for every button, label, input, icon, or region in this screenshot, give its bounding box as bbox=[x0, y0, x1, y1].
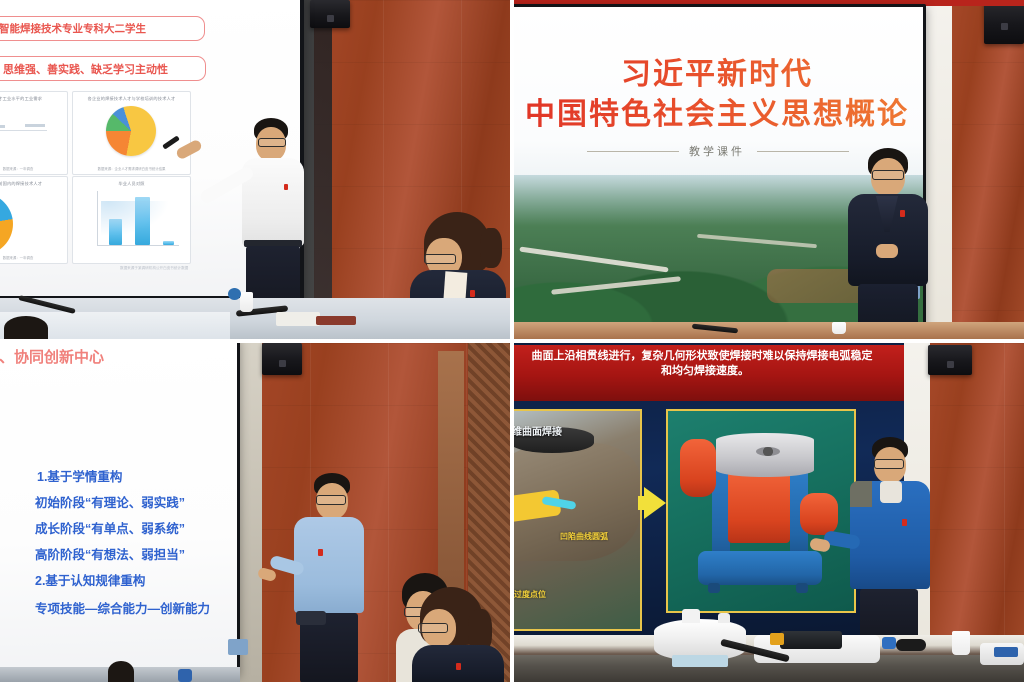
blue-folder-bl bbox=[178, 669, 192, 682]
presenter-male-white-shirt bbox=[232, 118, 324, 318]
slide-mini-card-2: 各企业的焊接技术人才与学校培训的技术人才 数据来源：企业人才需求调研白皮书统计结… bbox=[72, 91, 191, 175]
slide-line-2: 初始阶段“有理论、弱实践” bbox=[35, 492, 185, 511]
foreground-head-tl bbox=[4, 316, 48, 339]
presenter-br-glasses bbox=[874, 459, 904, 469]
wall-wood-panel-tr bbox=[946, 0, 1024, 339]
positioner-motor-left bbox=[680, 439, 716, 497]
slide-banner-line-2: 和均匀焊接速度。 bbox=[514, 364, 904, 379]
slide-banner-line-1: 曲面上沿相贯线进行，复杂几何形状致使焊接时难以保持焊接电弧稳定 bbox=[514, 349, 904, 364]
positioner-base bbox=[698, 551, 822, 585]
slide-photo-right bbox=[666, 409, 856, 613]
foreground-head-bl bbox=[108, 661, 134, 682]
mini-card-4-title: 毕业人员对照 bbox=[73, 181, 190, 187]
positioner-plate-center bbox=[756, 447, 780, 456]
slide-header-bl: 、协同创新中心 bbox=[0, 346, 104, 367]
positioner-foot-left bbox=[708, 583, 720, 593]
annotation-label-2: 曲面弧过度点位 bbox=[514, 589, 546, 600]
mic-blue-tag bbox=[882, 637, 896, 649]
presenter-tr-glasses bbox=[872, 170, 904, 180]
tank-nozzle-1 bbox=[682, 609, 700, 623]
presenter-bl-shirt bbox=[294, 517, 364, 613]
notebook-tl bbox=[316, 316, 356, 325]
observer-glasses bbox=[424, 254, 456, 264]
mini-card-1-line bbox=[0, 130, 47, 131]
mini-card-1-blob-b bbox=[25, 124, 45, 127]
mini-card-2-title: 各企业的焊接技术人才与学校培训的技术人才 bbox=[73, 96, 190, 102]
presenter-glasses bbox=[258, 138, 286, 147]
slide-mini-card-4: 毕业人员对照 bbox=[72, 176, 191, 264]
paper-sheet-tl bbox=[276, 312, 320, 326]
projection-screen-surface-bl: 、协同创新中心 1.基于学情重构 初始阶段“有理论、弱实践” 成长阶段“有单点、… bbox=[0, 343, 237, 670]
presenter-bl-party-badge bbox=[318, 549, 323, 556]
listener-front-female bbox=[412, 587, 508, 682]
presenter-tr-clasped-hands bbox=[876, 244, 898, 258]
positioner-foot-right bbox=[796, 583, 808, 593]
listener-front-party-badge bbox=[456, 663, 461, 670]
mini-card-3-caption: 数据来源：一年调查 bbox=[0, 255, 67, 260]
presenter-male-work-jacket bbox=[850, 437, 946, 637]
mini-card-3-pie-chart bbox=[0, 193, 13, 255]
mini-card-1-blob-a bbox=[0, 125, 5, 128]
slide-line-4: 高阶阶段“有想法、弱担当” bbox=[35, 544, 185, 563]
presenter-bl-glasses bbox=[316, 495, 346, 505]
mini-card-4-x-axis bbox=[97, 245, 179, 246]
observer-ponytail bbox=[480, 228, 502, 268]
slide-line-3: 成长阶段“有单点、弱系统” bbox=[35, 518, 185, 537]
mini-card-4-trend-shade bbox=[101, 201, 177, 241]
slide-line-6: 专项技能—综合能力—创新能力 bbox=[35, 598, 210, 617]
presenter-male-blue-shirt bbox=[292, 473, 382, 681]
panel-bottom-right: 曲面上沿相贯线进行，复杂几何形状致使焊接时难以保持焊接电弧稳定 和均匀焊接速度。… bbox=[514, 343, 1024, 682]
ceiling-speaker-br bbox=[928, 345, 972, 375]
handheld-mic-br bbox=[896, 639, 926, 651]
tank-nozzle-2 bbox=[718, 613, 730, 623]
slide-line-1: 1.基于学情重构 bbox=[37, 466, 122, 485]
projection-screen-frame-bl: 、协同创新中心 1.基于学情重构 初始阶段“有理论、弱实践” 成长阶段“有单点、… bbox=[0, 343, 240, 675]
mini-card-2-caption: 数据来源：企业人才需求调研白皮书统计结果 bbox=[73, 166, 190, 171]
slide-photo-left-label: 三维曲面焊接 bbox=[514, 423, 562, 438]
panel-top-left: 智能焊接技术专业专科大二学生 弱、思维强、善实践、缺乏学习主动性 人才工业水平的… bbox=[0, 0, 510, 339]
paper-cup-tl bbox=[240, 292, 253, 312]
panel-top-right: 习近平新时代 中国特色社会主义思想概论 教学课件 bbox=[514, 0, 1024, 339]
positioner-body-red bbox=[728, 469, 790, 543]
slide-banner-audience-text: 智能焊接技术专业专科大二学生 bbox=[0, 21, 146, 36]
mini-card-1-title: 人才工业水平的工业需求 bbox=[0, 96, 67, 102]
presenter-br-shoulder-patch bbox=[850, 481, 872, 507]
positioner-motor-right bbox=[800, 493, 838, 535]
photo-collage: 智能焊接技术专业专科大二学生 弱、思维强、善实践、缺乏学习主动性 人才工业水平的… bbox=[0, 0, 1024, 682]
led-screen-br: 曲面上沿相贯线进行，复杂几何形状致使焊接时难以保持焊接电弧稳定 和均匀焊接速度。… bbox=[514, 343, 904, 643]
presenter-br-badge bbox=[902, 519, 907, 526]
slide-banner-traits: 弱、思维强、善实践、缺乏学习主动性 bbox=[0, 56, 206, 81]
presenter-br-inner-shirt bbox=[880, 481, 902, 503]
slide-footer-note: 数据来源于某调研机构公开白皮书统计数据 bbox=[120, 266, 188, 271]
presenter-party-badge bbox=[284, 184, 288, 190]
tank-stand bbox=[672, 655, 728, 667]
blue-item-br bbox=[994, 647, 1018, 657]
mini-card-4-y-axis bbox=[97, 191, 98, 245]
presenter-tr-party-badge bbox=[900, 210, 905, 217]
blue-object-tl bbox=[228, 288, 241, 300]
slide-photo-left: 凹陷曲线圆弧 曲面弧过度点位 bbox=[514, 409, 642, 631]
mini-card-3-title: 目前国内的焊接技术人才 bbox=[0, 181, 67, 187]
panel-bottom-left: 、协同创新中心 1.基于学情重构 初始阶段“有理论、弱实践” 成长阶段“有单点、… bbox=[0, 343, 510, 682]
observer-party-badge bbox=[470, 290, 475, 297]
wall-control-panel-bl bbox=[228, 639, 248, 655]
mini-card-1-caption: 数据来源：一年调查 bbox=[0, 166, 67, 171]
tool-on-tray bbox=[780, 631, 842, 649]
slide-title-line-1: 习近平新时代 bbox=[514, 49, 923, 93]
presenter-bl-hand-pocket bbox=[296, 611, 326, 625]
front-desk-tr bbox=[514, 322, 1024, 339]
presenter-female-navy-suit bbox=[842, 148, 938, 338]
cup-tr bbox=[832, 322, 846, 334]
paper-cup-br bbox=[952, 631, 970, 655]
mini-card-2-pie-chart bbox=[106, 106, 156, 156]
slide-title-line-2: 中国特色社会主义思想概论 bbox=[514, 89, 923, 133]
slide-banner-traits-text: 弱、思维强、善实践、缺乏学习主动性 bbox=[0, 61, 168, 77]
annotation-label-1: 凹陷曲线圆弧 bbox=[560, 531, 608, 542]
slide-red-banner: 曲面上沿相贯线进行，复杂几何形状致使焊接时难以保持焊接电弧稳定 和均匀焊接速度。 bbox=[514, 345, 904, 401]
slide-mini-card-3: 目前国内的焊接技术人才 数据来源：一年调查 bbox=[0, 176, 68, 264]
listener-front-glasses bbox=[418, 623, 448, 633]
tool-yellow-part bbox=[770, 633, 784, 645]
slide-transition-arrow-tail bbox=[638, 496, 648, 510]
slide-banner-audience: 智能焊接技术专业专科大二学生 bbox=[0, 16, 205, 41]
mini-card-4-bar-3 bbox=[163, 241, 174, 245]
slide-mini-card-1: 人才工业水平的工业需求 数据来源：一年调查 bbox=[0, 91, 68, 175]
ceiling-speaker-bl bbox=[262, 343, 302, 375]
slide-line-5: 2.基于认知规律重构 bbox=[35, 570, 145, 589]
ceiling-speaker-tr bbox=[984, 0, 1024, 44]
ceiling-speaker bbox=[310, 0, 350, 28]
